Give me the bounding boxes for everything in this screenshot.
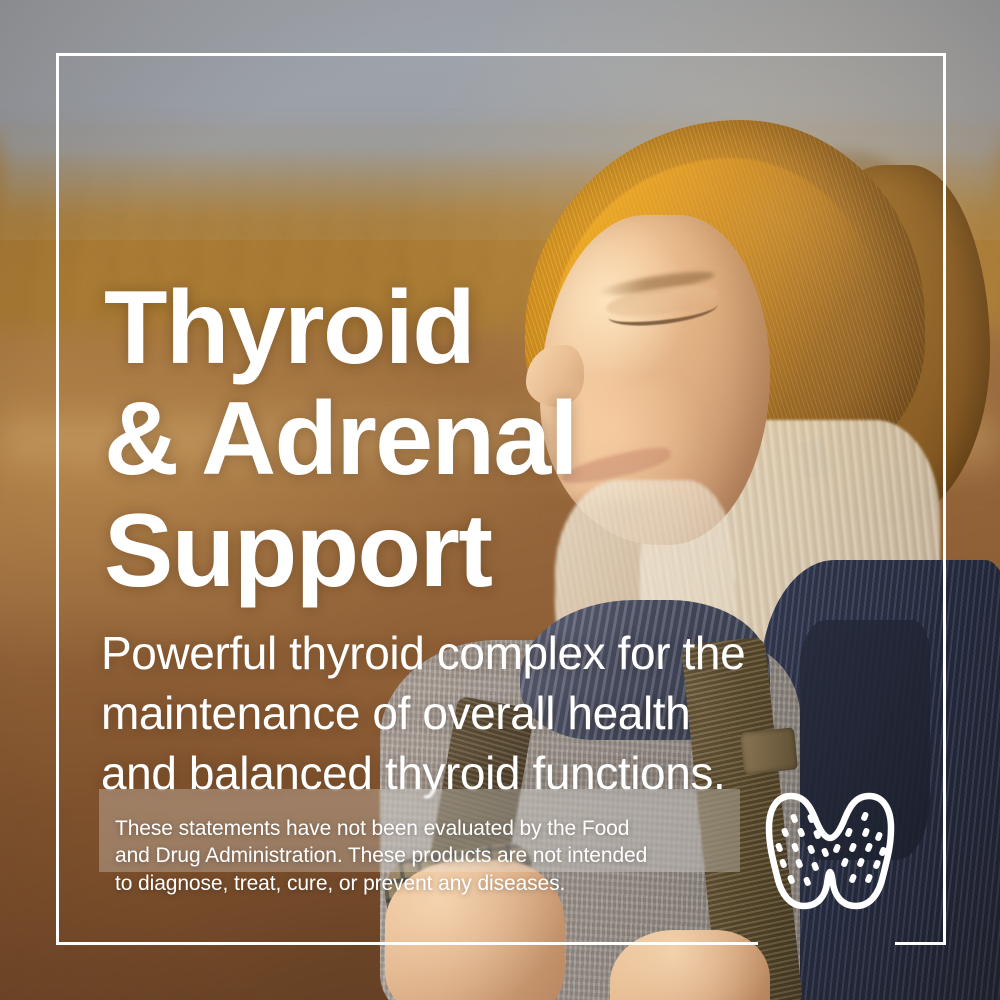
subheadline: Powerful thyroid complex for the mainten… xyxy=(101,624,891,803)
fda-disclaimer: These statements have not been evaluated… xyxy=(115,815,737,897)
thyroid-gland-icon xyxy=(764,784,896,912)
page-title: Thyroid & Adrenal Support xyxy=(104,273,824,608)
banner-canvas: Thyroid & Adrenal Support Powerful thyro… xyxy=(0,0,1000,1000)
hand-right xyxy=(610,930,770,1000)
